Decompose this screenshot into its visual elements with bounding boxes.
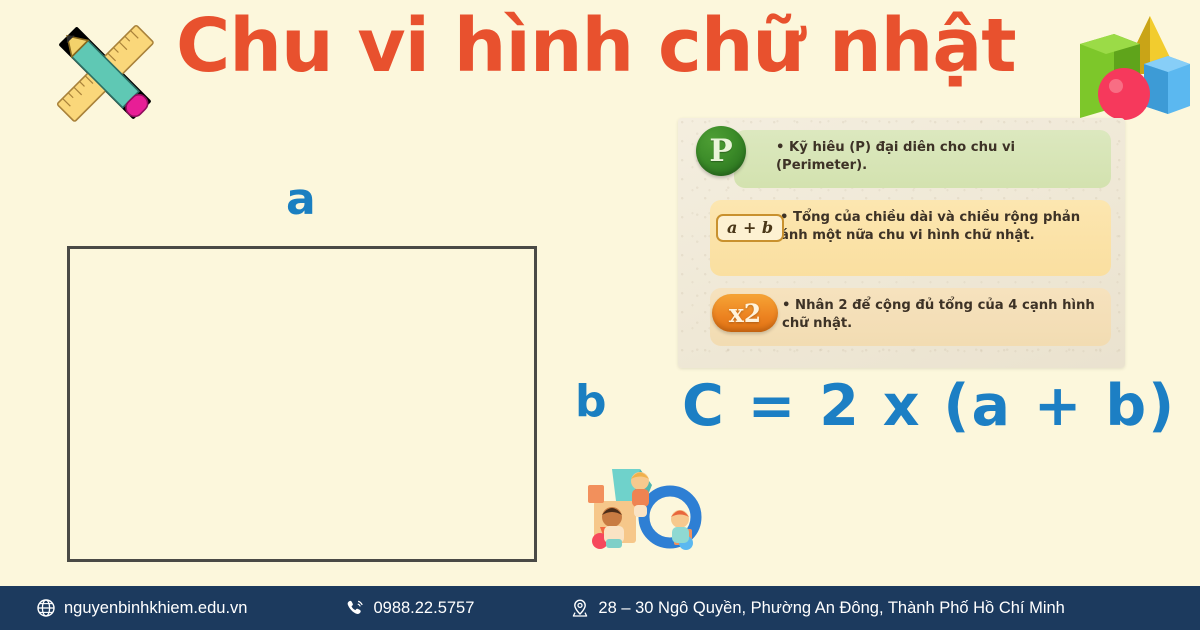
info-row-text: • Kỹ hiêu (P) đại diên cho chu vi (Perim… [776, 139, 1101, 175]
footer-phone-label: 0988.22.5757 [373, 599, 474, 618]
info-row-text: • Nhân 2 để cộng đủ tổng của 4 cạnh hình… [782, 297, 1101, 333]
info-row: x2 • Nhân 2 để cộng đủ tổng của 4 cạnh h… [710, 288, 1111, 346]
info-row-label: Nhân 2 để cộng đủ tổng của 4 cạnh hình c… [782, 298, 1095, 331]
pencil-ruler-icon [44, 12, 166, 134]
footer-bar: nguyenbinhkhiem.edu.vn 0988.22.5757 [0, 586, 1200, 630]
info-row: P • Kỹ hiêu (P) đại diên cho chu vi (Per… [734, 130, 1111, 188]
info-row: a + b • Tổng của chiều dài và chiều rộng… [710, 200, 1111, 276]
globe-icon [36, 598, 56, 618]
info-row-text: • Tổng của chiều dài và chiều rộng phản … [780, 209, 1101, 245]
page-title: Chu vi hình chữ nhật [176, 8, 1016, 86]
badge-times-two: x2 [712, 294, 778, 332]
rectangle-figure [67, 246, 537, 562]
info-row-label: Tổng của chiều dài và chiều rộng phản án… [780, 210, 1080, 243]
kids-playing-blocks-icon [578, 455, 706, 555]
badge-perimeter-p: P [696, 126, 746, 176]
info-panel: P • Kỹ hiêu (P) đại diên cho chu vi (Per… [678, 118, 1125, 368]
footer-phone[interactable]: 0988.22.5757 [345, 598, 474, 618]
3d-shapes-icon [1062, 12, 1190, 124]
badge-a-plus-b: a + b [716, 214, 784, 242]
side-label-a: a [286, 178, 316, 222]
info-row-label: Kỹ hiêu (P) đại diên cho chu vi (Perimet… [776, 140, 1015, 173]
phone-icon [345, 598, 365, 618]
poster-canvas: Chu vi hình chữ nhật P • Kỹ hiêu (P) đại… [0, 0, 1200, 630]
side-label-b: b [575, 380, 607, 424]
bullet-icon: • [782, 298, 790, 313]
bullet-icon: • [776, 140, 784, 155]
footer-website[interactable]: nguyenbinhkhiem.edu.vn [36, 598, 247, 618]
footer-address-label: 28 – 30 Ngô Quyền, Phường An Đông, Thành… [598, 599, 1064, 618]
footer-address[interactable]: 28 – 30 Ngô Quyền, Phường An Đông, Thành… [570, 598, 1064, 618]
perimeter-formula: C = 2 x (a + b) [682, 378, 1176, 435]
location-pin-icon [570, 598, 590, 618]
footer-website-label: nguyenbinhkhiem.edu.vn [64, 599, 247, 618]
